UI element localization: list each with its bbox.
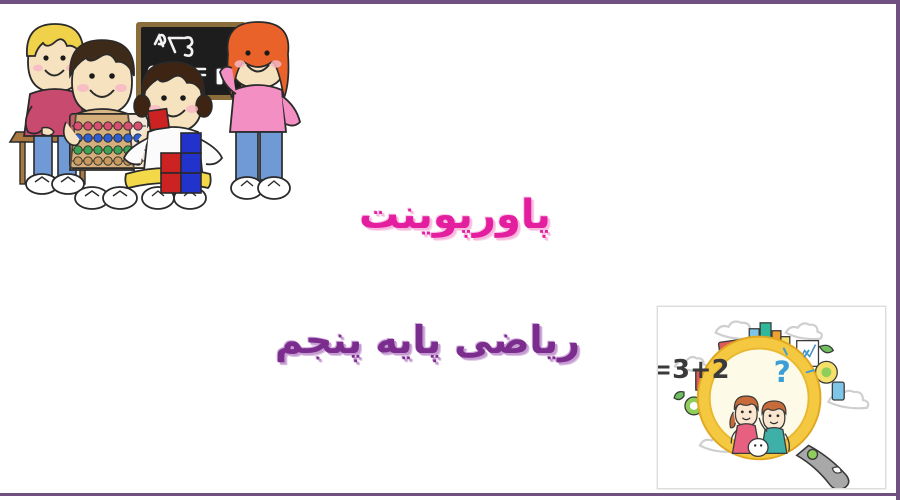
- title-powerpoint: پاورپوینت: [330, 192, 580, 238]
- slide-border-right: [896, 0, 900, 500]
- picture-magnifying-glass-math: 3+2= ?: [657, 306, 886, 489]
- clipart-children-math: [8, 10, 330, 215]
- powerpoint-slide: پاورپوینت ریاضی پایه پنجم: [0, 0, 900, 500]
- title-subject: ریاضی پایه پنجم: [310, 318, 580, 362]
- svg-text:?: ?: [774, 354, 791, 389]
- slide-border-top: [0, 0, 900, 4]
- svg-text:3+2=: 3+2=: [658, 355, 729, 385]
- slide-border-bottom: [0, 493, 900, 496]
